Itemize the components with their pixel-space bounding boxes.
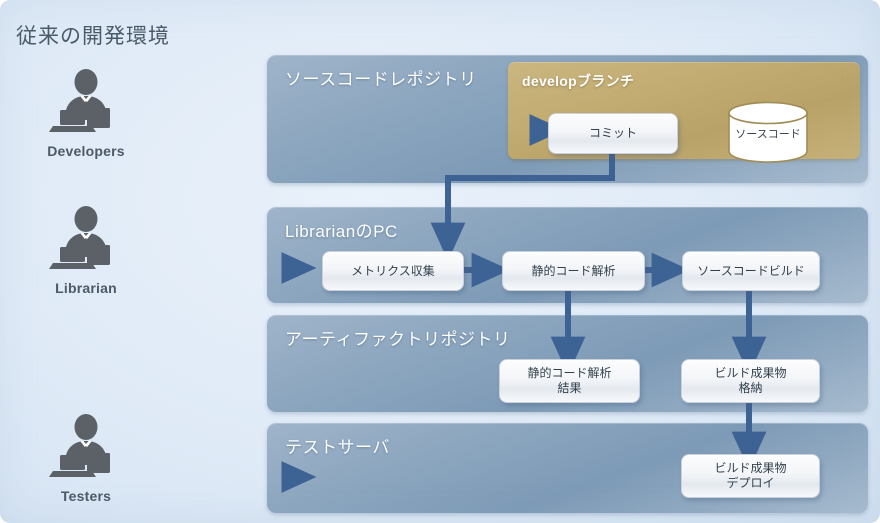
node-source-code-build[interactable]: ソースコードビルド bbox=[682, 251, 820, 291]
node-build-artifact-deploy[interactable]: ビルド成果物 デプロイ bbox=[681, 454, 820, 498]
node-static-analysis-result[interactable]: 静的コード解析 結果 bbox=[499, 359, 640, 403]
datastore-label: ソースコード bbox=[726, 125, 810, 141]
node-commit[interactable]: コミット bbox=[548, 113, 678, 154]
actor-testers: Testers bbox=[38, 413, 134, 504]
datastore-source-code: ソースコード bbox=[726, 100, 810, 164]
panel-title-test-server: テストサーバ bbox=[285, 433, 390, 458]
person-laptop-icon bbox=[38, 413, 134, 481]
actor-label-developers: Developers bbox=[38, 143, 134, 159]
actor-label-librarian: Librarian bbox=[38, 280, 134, 296]
node-metrics-collection[interactable]: メトリクス収集 bbox=[322, 251, 464, 291]
panel-title-librarian-pc: LibrarianのPC bbox=[285, 217, 398, 242]
actor-developers: Developers bbox=[38, 68, 134, 159]
diagram-canvas: 従来の開発環境 ソースコードレポジトリ developブランチ Libraria… bbox=[0, 0, 880, 523]
panel-title-artifact-repository: アーティファクトリポジトリ bbox=[285, 325, 510, 350]
node-static-code-analysis[interactable]: 静的コード解析 bbox=[502, 251, 645, 291]
node-build-artifact-store[interactable]: ビルド成果物 格納 bbox=[681, 359, 820, 403]
panel-title-source-code-repository: ソースコードレポジトリ bbox=[285, 65, 477, 90]
actor-label-testers: Testers bbox=[38, 488, 134, 504]
develop-branch-title: developブランチ bbox=[522, 71, 634, 91]
page-title: 従来の開発環境 bbox=[16, 20, 170, 50]
actor-librarian: Librarian bbox=[38, 205, 134, 296]
person-laptop-icon bbox=[38, 205, 134, 273]
person-laptop-icon bbox=[38, 68, 134, 136]
